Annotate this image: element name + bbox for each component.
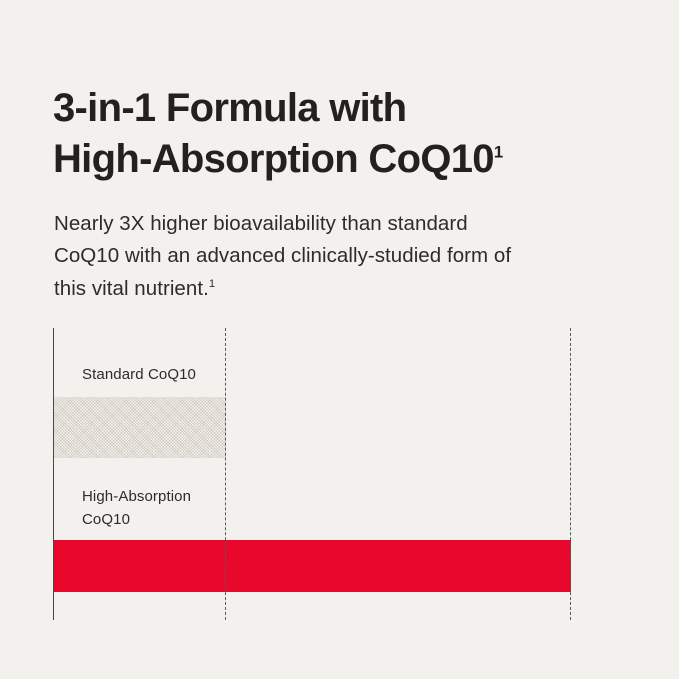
bar-standard-coq10 — [54, 397, 226, 458]
bar-label-high-absorption-coq10: High-Absorption CoQ10 — [82, 485, 191, 531]
chart-gridline-3x — [570, 328, 571, 620]
infographic-page: 3-in-1 Formula with High-Absorption CoQ1… — [0, 0, 679, 679]
bar-high-absorption-coq10 — [54, 540, 571, 592]
bar-label-high-line-1: High-Absorption — [82, 485, 191, 508]
bioavailability-bar-chart: Standard CoQ10 High-Absorption CoQ10 — [0, 0, 679, 679]
chart-gridline-1x — [225, 328, 226, 620]
bar-label-standard-line-1: Standard CoQ10 — [82, 363, 196, 386]
bar-label-standard-coq10: Standard CoQ10 — [82, 363, 196, 386]
bar-label-high-line-2: CoQ10 — [82, 508, 191, 531]
